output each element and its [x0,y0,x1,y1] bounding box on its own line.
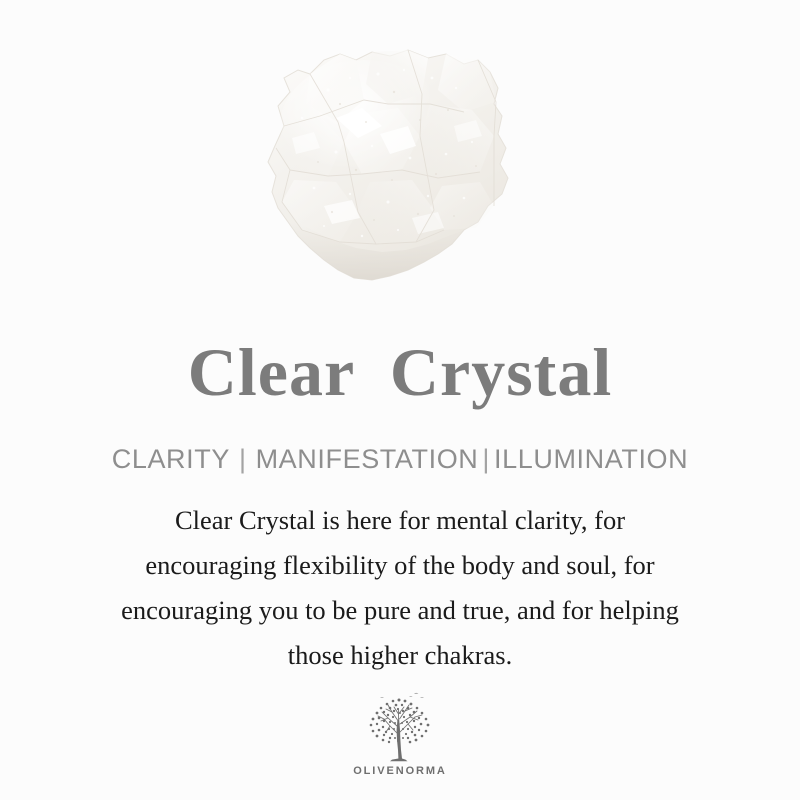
olive-tree-logo-icon [357,688,443,766]
description-line: Clear Crystal is here for mental clarity… [50,498,750,543]
description-text: Clear Crystal is here for mental clarity… [50,498,750,678]
description-line: those higher chakras. [50,633,750,678]
description-line: encouraging flexibility of the body and … [50,543,750,588]
keyword-illumination: ILLUMINATION [494,444,688,474]
page-title: Clear Crystal [0,336,800,408]
brand-logo: OLIVENORMA [0,688,800,777]
keyword-separator: | [230,444,256,474]
description-line: encouraging you to be pure and true, and… [50,588,750,633]
brand-wordmark: OLIVENORMA [0,765,800,777]
keyword-separator: | [478,444,494,474]
keyword-clarity: CLARITY [112,444,230,474]
product-info-card: Clear Crystal CLARITY|MANIFESTATION|ILLU… [0,0,800,800]
keyword-line: CLARITY|MANIFESTATION|ILLUMINATION [0,443,800,475]
clear-quartz-crystal-icon [232,30,532,300]
product-image-area [0,0,800,310]
keyword-manifestation: MANIFESTATION [256,444,479,474]
